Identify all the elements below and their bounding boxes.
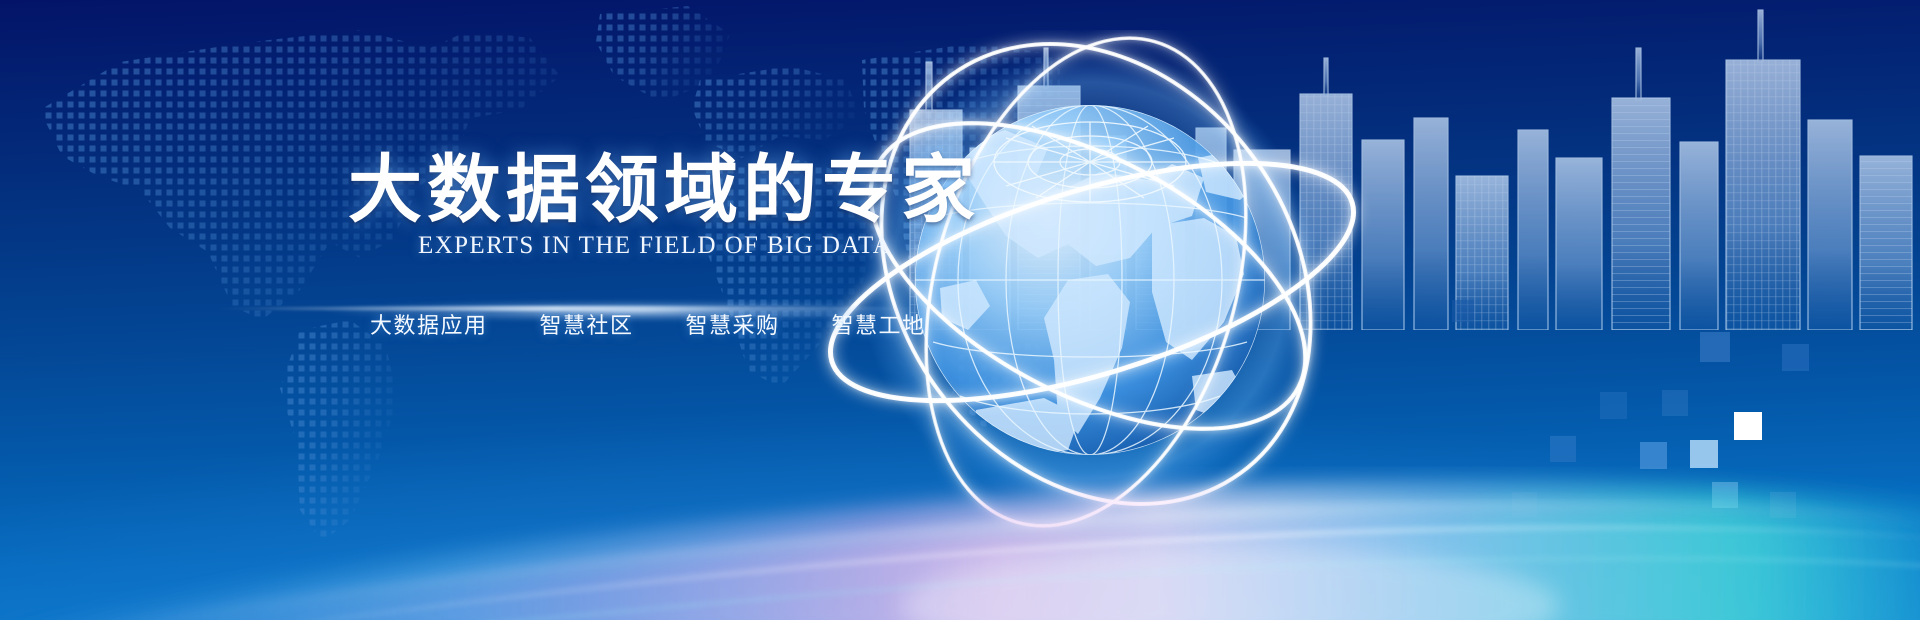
page-subtitle: EXPERTS IN THE FIELD OF BIG DATA	[418, 231, 892, 261]
tag-smart-construction[interactable]: 智慧工地	[832, 313, 926, 339]
mosaic-square	[1690, 440, 1718, 468]
tag-smart-procurement[interactable]: 智慧采购	[686, 313, 780, 339]
mosaic-square	[1550, 436, 1576, 462]
big-data-banner: 大数据领域的专家 EXPERTS IN THE FIELD OF BIG DAT…	[0, 0, 1920, 620]
mosaic-square	[1640, 442, 1667, 469]
mosaic-square-white	[1734, 412, 1762, 440]
mosaic-square	[1662, 390, 1688, 416]
mosaic-square	[1782, 344, 1809, 371]
mosaic-square	[1700, 332, 1730, 362]
mosaic-square	[1452, 300, 1474, 322]
city-skyline-icon	[900, 0, 1920, 330]
mosaic-square	[1600, 392, 1627, 419]
page-title: 大数据领域的专家	[348, 147, 980, 233]
mosaic-square	[1770, 492, 1796, 518]
tag-big-data-application[interactable]: 大数据应用	[370, 313, 488, 339]
mosaic-square	[1712, 482, 1738, 508]
tag-smart-community[interactable]: 智慧社区	[540, 313, 634, 339]
banner-copy: 大数据领域的专家 EXPERTS IN THE FIELD OF BIG DAT…	[0, 0, 1000, 620]
mosaic-square	[1512, 492, 1537, 517]
tag-list: 大数据应用 智慧社区 智慧采购 智慧工地	[370, 313, 926, 339]
